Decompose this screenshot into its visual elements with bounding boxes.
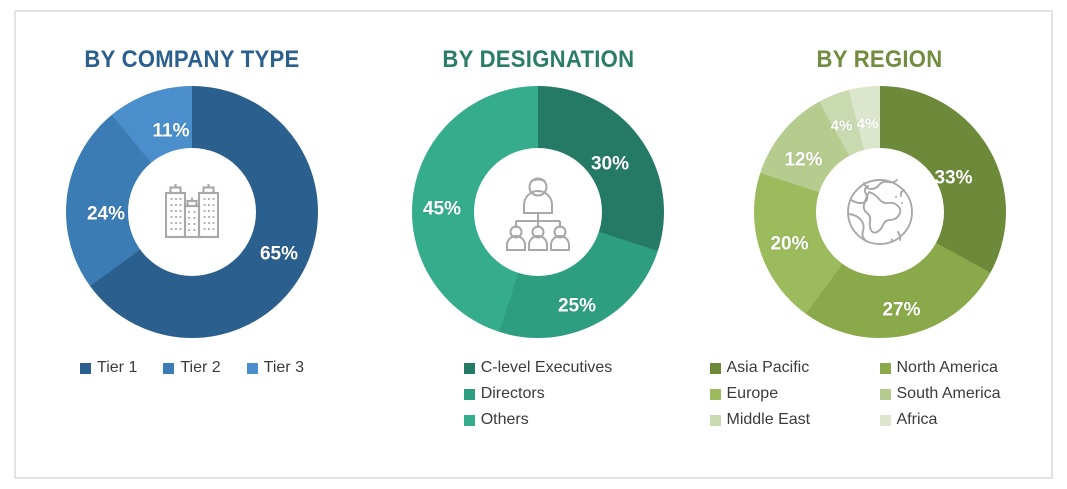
legend-label-tier-1: Tier 1 bbox=[97, 360, 137, 376]
legend-swatch-africa bbox=[880, 415, 891, 426]
panel-title-region: BY REGION bbox=[816, 48, 942, 72]
legend-item-others[interactable]: Others bbox=[464, 412, 529, 428]
legend-designation: C-level Executives Directors Others bbox=[464, 360, 613, 428]
legend-label-others: Others bbox=[481, 412, 529, 428]
donut-center-region bbox=[816, 148, 944, 276]
slice-label-middle-east: 4% bbox=[831, 119, 853, 134]
legend-swatch-tier-1 bbox=[80, 363, 91, 374]
legend-swatch-directors bbox=[464, 389, 475, 400]
org-chart-people-icon bbox=[495, 172, 581, 252]
slice-label-tier-3: 11% bbox=[153, 122, 190, 141]
panel-title-company-type: BY COMPANY TYPE bbox=[84, 48, 299, 72]
slice-label-directors: 25% bbox=[558, 297, 596, 316]
legend-swatch-tier-3 bbox=[247, 363, 258, 374]
legend-swatch-south-america bbox=[880, 389, 891, 400]
legend-swatch-middle-east bbox=[710, 415, 721, 426]
legend-label-asia-pacific: Asia Pacific bbox=[727, 360, 810, 376]
legend-item-c-level-executives[interactable]: C-level Executives bbox=[464, 360, 613, 376]
slice-label-tier-1: 65% bbox=[260, 245, 298, 264]
donut-chart-company-type: 65% 24% 11% bbox=[66, 86, 318, 338]
legend-item-directors[interactable]: Directors bbox=[464, 386, 545, 402]
globe-icon bbox=[838, 170, 922, 254]
legend-item-middle-east[interactable]: Middle East bbox=[710, 412, 880, 428]
legend-label-africa: Africa bbox=[897, 412, 938, 428]
legend-swatch-asia-pacific bbox=[710, 363, 721, 374]
legend-swatch-others bbox=[464, 415, 475, 426]
donut-center-designation bbox=[474, 148, 602, 276]
legend-item-tier-1[interactable]: Tier 1 bbox=[80, 360, 137, 376]
panel-title-designation: BY DESIGNATION bbox=[442, 48, 634, 72]
slice-label-africa: 4% bbox=[857, 117, 879, 132]
legend-item-africa[interactable]: Africa bbox=[880, 412, 1050, 428]
legend-label-directors: Directors bbox=[481, 386, 545, 402]
legend-swatch-north-america bbox=[880, 363, 891, 374]
office-buildings-icon bbox=[153, 173, 231, 251]
legend-item-asia-pacific[interactable]: Asia Pacific bbox=[710, 360, 880, 376]
slice-label-north-america: 27% bbox=[882, 301, 920, 320]
legend-item-europe[interactable]: Europe bbox=[710, 386, 880, 402]
legend-item-tier-2[interactable]: Tier 2 bbox=[163, 360, 220, 376]
slice-label-others: 45% bbox=[423, 200, 461, 219]
legend-item-tier-3[interactable]: Tier 3 bbox=[247, 360, 304, 376]
legend-swatch-europe bbox=[710, 389, 721, 400]
slice-label-c-level: 30% bbox=[591, 155, 629, 174]
legend-label-north-america: North America bbox=[897, 360, 998, 376]
panels-container: BY COMPANY TYPE bbox=[16, 12, 1051, 477]
legend-label-tier-3: Tier 3 bbox=[264, 360, 304, 376]
donut-chart-region: 33% 27% 20% 12% 4% 4% bbox=[754, 86, 1006, 338]
legend-swatch-tier-2 bbox=[163, 363, 174, 374]
legend-item-north-america[interactable]: North America bbox=[880, 360, 1050, 376]
legend-label-europe: Europe bbox=[727, 386, 779, 402]
slice-label-europe: 20% bbox=[770, 235, 808, 254]
panel-by-company-type: BY COMPANY TYPE bbox=[16, 12, 368, 477]
legend-swatch-c-level-executives bbox=[464, 363, 475, 374]
legend-label-south-america: South America bbox=[897, 386, 1001, 402]
legend-label-tier-2: Tier 2 bbox=[180, 360, 220, 376]
panel-by-designation: BY DESIGNATION bbox=[368, 12, 708, 477]
donut-chart-designation: 30% 25% 45% bbox=[412, 86, 664, 338]
slice-label-asia-pacific: 33% bbox=[934, 169, 972, 188]
donut-center-company-type bbox=[128, 148, 256, 276]
slice-label-tier-2: 24% bbox=[87, 205, 125, 224]
legend-region: Asia Pacific North America Europe South … bbox=[710, 360, 1050, 428]
legend-item-south-america[interactable]: South America bbox=[880, 386, 1050, 402]
slice-label-south-america: 12% bbox=[784, 151, 822, 170]
legend-label-middle-east: Middle East bbox=[727, 412, 811, 428]
legend-label-c-level-executives: C-level Executives bbox=[481, 360, 613, 376]
panel-by-region: BY REGION bbox=[708, 12, 1051, 477]
infographic-frame: BY COMPANY TYPE bbox=[0, 0, 1067, 489]
legend-company-type: Tier 1 Tier 2 Tier 3 bbox=[80, 360, 304, 376]
